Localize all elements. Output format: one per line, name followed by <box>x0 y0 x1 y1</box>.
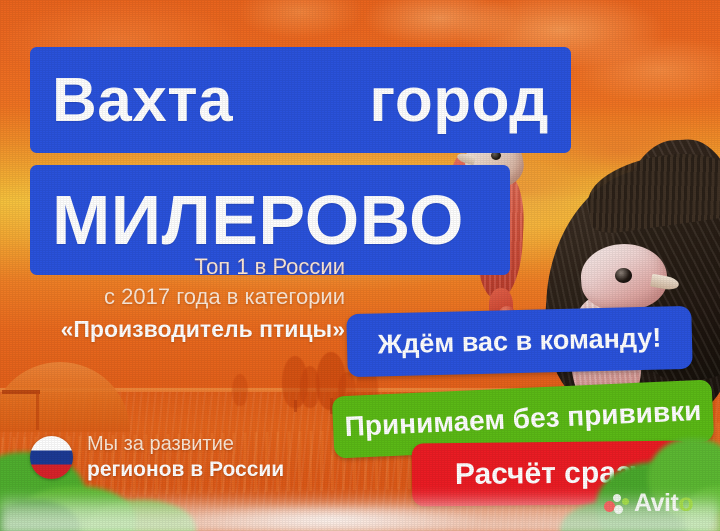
avito-wordmark-main: Avit <box>634 489 678 517</box>
avito-watermark: Avito <box>604 489 693 518</box>
cta-join-team[interactable]: Ждём вас в команду! <box>346 306 692 377</box>
russia-flag-circle-icon <box>30 436 73 479</box>
rank-line-1: Топ 1 в России <box>194 254 345 279</box>
regions-text: Мы за развитие регионов в России <box>87 432 284 482</box>
avito-wordmark: Avito <box>634 489 693 518</box>
top-rank-claim: Топ 1 в России с 2017 года в категории «… <box>0 252 345 344</box>
headline-word-gorod: город <box>369 65 549 136</box>
turkey-right-eye <box>615 268 632 283</box>
avito-job-ad-banner: Вахта город МИЛЕРОВО Топ 1 в России с 20… <box>0 0 720 531</box>
bottom-mist-highlight <box>120 498 540 531</box>
regions-line-2: регионов в России <box>87 457 284 482</box>
barn-post <box>36 392 39 430</box>
regions-line-1: Мы за развитие <box>87 433 234 455</box>
cta-join-team-label: Ждём вас в команду! <box>377 323 661 361</box>
headline-banner-line1: Вахта город <box>30 47 571 153</box>
background-tree <box>232 374 248 406</box>
cta-no-vaccination-label: Принимаем без прививки <box>344 395 702 443</box>
barn-rail <box>2 390 40 394</box>
rank-category-name: «Производитель птицы» <box>0 314 345 344</box>
regions-statement: Мы за развитие регионов в России <box>30 432 284 482</box>
avito-dots-logo-icon <box>604 493 630 515</box>
rank-line-2: с 2017 года в категории <box>0 282 345 312</box>
headline-word-vahta: Вахта <box>52 65 233 136</box>
tree-trunk <box>294 400 297 412</box>
avito-wordmark-o: o <box>678 489 693 517</box>
headline-city-name: МИЛЕРОВО <box>52 180 464 260</box>
